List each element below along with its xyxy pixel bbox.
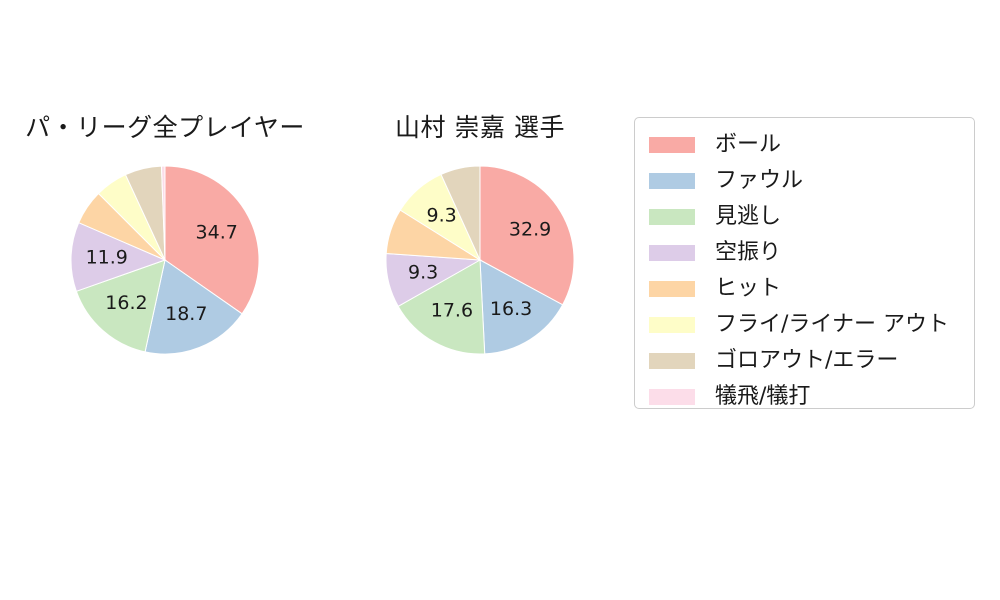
legend-item[interactable]: ボール — [649, 127, 974, 163]
pie-slice-label: 32.9 — [509, 219, 551, 241]
pie-panel-league: パ・リーグ全プレイヤー 34.718.716.211.9 — [10, 110, 320, 360]
legend-item[interactable]: 空振り — [649, 235, 974, 271]
legend-item[interactable]: ファウル — [649, 163, 974, 199]
legend: ボールファウル見逃し空振りヒットフライ/ライナー アウトゴロアウト/エラー犠飛/… — [634, 117, 975, 409]
pie-title-league: パ・リーグ全プレイヤー — [10, 110, 320, 146]
pie-slice-label: 17.6 — [431, 300, 473, 322]
pie-slice-label: 9.3 — [408, 261, 438, 283]
legend-swatch — [649, 209, 695, 225]
legend-item-label: 犠飛/犠打 — [715, 386, 810, 408]
pie-title-player: 山村 崇嘉 選手 — [330, 110, 630, 146]
legend-item[interactable]: フライ/ライナー アウト — [649, 307, 974, 343]
legend-swatch — [649, 245, 695, 261]
pie-panel-player: 山村 崇嘉 選手 32.916.317.69.39.3 — [330, 110, 630, 360]
legend-swatch — [649, 137, 695, 153]
legend-swatch — [649, 353, 695, 369]
legend-item[interactable]: ヒット — [649, 271, 974, 307]
pie-svg-league: 34.718.716.211.9 — [15, 160, 315, 360]
legend-swatch — [649, 281, 695, 297]
legend-item[interactable]: ゴロアウト/エラー — [649, 343, 974, 379]
legend-item-label: ヒット — [715, 278, 781, 300]
legend-item[interactable]: 犠飛/犠打 — [649, 379, 974, 415]
pie-slice-label: 16.3 — [490, 298, 532, 320]
pie-slice-label: 34.7 — [196, 222, 238, 244]
legend-item-label: 空振り — [715, 242, 781, 264]
legend-item-label: フライ/ライナー アウト — [715, 314, 949, 336]
pie-slice-label: 18.7 — [165, 303, 207, 325]
pie-chart-figure: パ・リーグ全プレイヤー 34.718.716.211.9 山村 崇嘉 選手 32… — [0, 0, 1000, 600]
legend-item-label: ゴロアウト/エラー — [715, 350, 898, 372]
pie-svg-player: 32.916.317.69.39.3 — [330, 160, 630, 360]
legend-swatch — [649, 173, 695, 189]
pie-slice-label: 11.9 — [86, 246, 128, 268]
legend-item-label: ボール — [715, 134, 781, 156]
pie-slice-label: 9.3 — [426, 205, 456, 227]
pie-wrap-league: 34.718.716.211.9 — [10, 160, 320, 360]
legend-item[interactable]: 見逃し — [649, 199, 974, 235]
legend-item-label: 見逃し — [715, 206, 781, 228]
pie-slice-label: 16.2 — [105, 292, 147, 314]
pie-wrap-player: 32.916.317.69.39.3 — [330, 160, 630, 360]
legend-item-label: ファウル — [715, 170, 803, 192]
legend-swatch — [649, 389, 695, 405]
legend-swatch — [649, 317, 695, 333]
